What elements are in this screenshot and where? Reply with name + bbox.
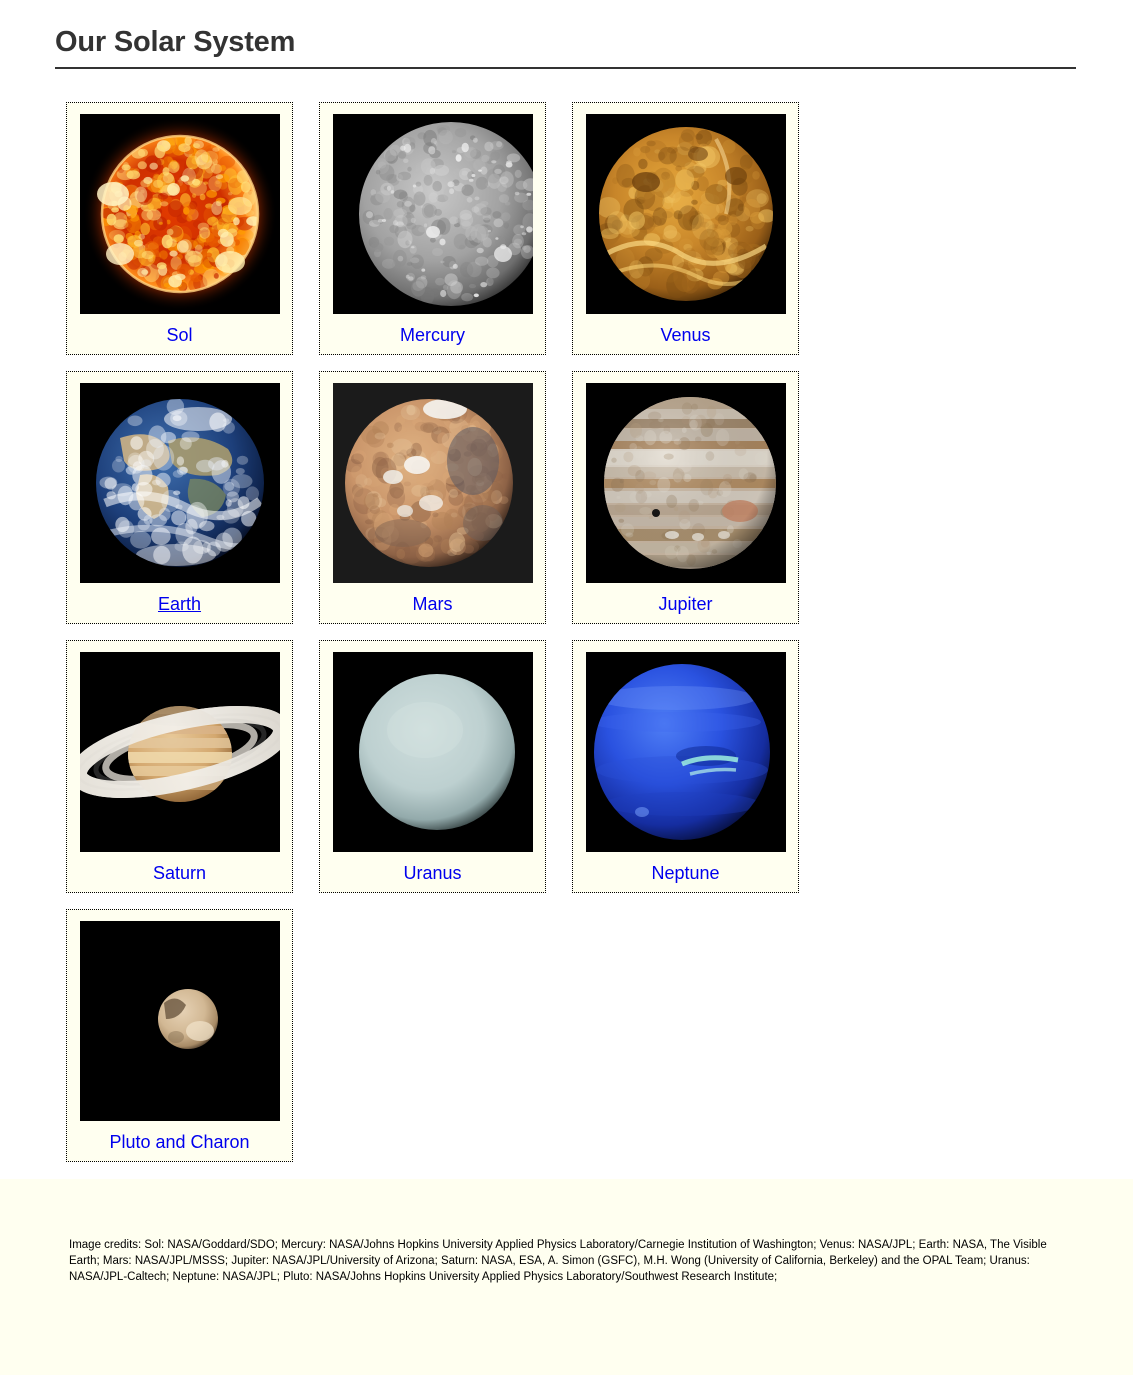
planet-card-mercury[interactable]: Mercury bbox=[319, 102, 546, 355]
planet-card-sol[interactable]: Sol bbox=[66, 102, 293, 355]
planet-label[interactable]: Mercury bbox=[400, 324, 465, 346]
planet-card-neptune[interactable]: Neptune bbox=[572, 640, 799, 893]
uranus-thumbnail bbox=[333, 652, 533, 852]
planet-label[interactable]: Sol bbox=[166, 324, 192, 346]
sun-thumbnail bbox=[80, 114, 280, 314]
content-area: Our Solar System SolMercuryVenusEarthMar… bbox=[0, 0, 1133, 1179]
credits-section: Image credits: Sol: NASA/Goddard/SDO; Me… bbox=[0, 1179, 1133, 1285]
planet-card-earth[interactable]: Earth bbox=[66, 371, 293, 624]
planet-card-venus[interactable]: Venus bbox=[572, 102, 799, 355]
planet-card-mars[interactable]: Mars bbox=[319, 371, 546, 624]
planet-label[interactable]: Jupiter bbox=[658, 593, 712, 615]
jupiter-thumbnail bbox=[586, 383, 786, 583]
planet-card-grid: SolMercuryVenusEarthMarsJupiterSaturnUra… bbox=[0, 69, 1010, 1178]
planet-card-jupiter[interactable]: Jupiter bbox=[572, 371, 799, 624]
image-credits-text: Image credits: Sol: NASA/Goddard/SDO; Me… bbox=[69, 1237, 1059, 1285]
planet-label[interactable]: Neptune bbox=[651, 862, 719, 884]
mars-thumbnail bbox=[333, 383, 533, 583]
planet-card-pluto-and-charon[interactable]: Pluto and Charon bbox=[66, 909, 293, 1162]
mercury-thumbnail bbox=[333, 114, 533, 314]
saturn-thumbnail bbox=[80, 652, 280, 852]
neptune-thumbnail bbox=[586, 652, 786, 852]
page-title: Our Solar System bbox=[0, 0, 1133, 67]
planet-label[interactable]: Mars bbox=[413, 593, 453, 615]
earth-thumbnail bbox=[80, 383, 280, 583]
planet-label[interactable]: Venus bbox=[660, 324, 710, 346]
venus-thumbnail bbox=[586, 114, 786, 314]
planet-label[interactable]: Earth bbox=[158, 593, 201, 615]
planet-card-saturn[interactable]: Saturn bbox=[66, 640, 293, 893]
planet-label[interactable]: Saturn bbox=[153, 862, 206, 884]
planet-label[interactable]: Pluto and Charon bbox=[109, 1131, 249, 1153]
page-bottom-spacer bbox=[0, 1285, 1133, 1375]
pluto-thumbnail bbox=[80, 921, 280, 1121]
planet-card-uranus[interactable]: Uranus bbox=[319, 640, 546, 893]
planet-label[interactable]: Uranus bbox=[403, 862, 461, 884]
